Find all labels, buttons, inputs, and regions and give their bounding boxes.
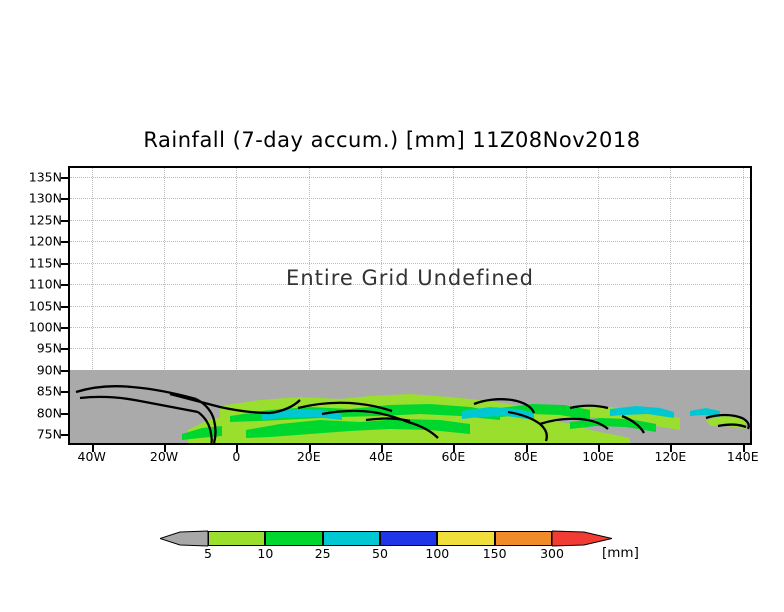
y-axis-tick-100N (61, 327, 68, 329)
y-axis-tick-95N (61, 348, 68, 350)
chart-canvas: Rainfall (7-day accum.) [mm] 11Z08Nov201… (0, 0, 784, 612)
y-axis-label-130N: 130N (29, 191, 62, 206)
map-plot-area[interactable]: Entire Grid Undefined (68, 166, 752, 445)
y-axis-tick-120N (61, 241, 68, 243)
y-axis-label-105N: 105N (29, 298, 62, 313)
x-axis-tick-20W (164, 445, 166, 452)
y-axis-tick-80N (61, 413, 68, 415)
y-axis-label-85N: 85N (37, 384, 62, 399)
x-axis-tick-20E (309, 445, 311, 452)
y-axis-label-110N: 110N (29, 277, 62, 292)
x-axis-tick-140E (743, 445, 745, 452)
colorbar-swatch-3 (380, 531, 437, 546)
colorbar-unit-label: [mm] (602, 545, 639, 561)
colorbar-tick-300: 300 (540, 546, 564, 561)
colorbar-tick-150: 150 (483, 546, 507, 561)
map-inner: Entire Grid Undefined (70, 168, 750, 443)
x-axis-tick-120E (670, 445, 672, 452)
colorbar-tick-25: 25 (315, 546, 331, 561)
colorbar-swatch-0 (208, 531, 265, 546)
y-axis-label-120N: 120N (29, 234, 62, 249)
y-axis-label-100N: 100N (29, 319, 62, 334)
colorbar-arrow-low (160, 528, 208, 549)
rainfall-field (70, 168, 750, 443)
colorbar-swatch-4 (437, 531, 494, 546)
y-axis-tick-85N (61, 391, 68, 393)
y-axis-label-115N: 115N (29, 255, 62, 270)
page-title: Rainfall (7-day accum.) [mm] 11Z08Nov201… (0, 128, 784, 152)
x-axis-tick-80E (526, 445, 528, 452)
y-axis-label-125N: 125N (29, 212, 62, 227)
x-axis-tick-40E (381, 445, 383, 452)
y-axis-tick-135N (61, 177, 68, 179)
y-axis-label-135N: 135N (29, 169, 62, 184)
x-axis-tick-100E (598, 445, 600, 452)
y-axis-label-95N: 95N (37, 341, 62, 356)
colorbar-swatch-2 (323, 531, 380, 546)
colorbar-tick-5: 5 (204, 546, 212, 561)
y-axis-tick-110N (61, 284, 68, 286)
y-axis-tick-105N (61, 306, 68, 308)
rainfall-patches (76, 386, 749, 443)
y-axis-tick-115N (61, 263, 68, 265)
x-axis-tick-0 (236, 445, 238, 452)
y-axis-tick-90N (61, 370, 68, 372)
y-axis-tick-130N (61, 198, 68, 200)
colorbar-swatch-5 (495, 531, 552, 546)
colorbar-tick-100: 100 (425, 546, 449, 561)
colorbar-tick-50: 50 (372, 546, 388, 561)
x-axis-tick-40W (92, 445, 94, 452)
colorbar-swatch-1 (265, 531, 322, 546)
y-axis-label-80N: 80N (37, 405, 62, 420)
colorbar-tick-10: 10 (257, 546, 273, 561)
y-axis-label-75N: 75N (37, 427, 62, 442)
y-axis-label-90N: 90N (37, 362, 62, 377)
y-axis-tick-75N (61, 434, 68, 436)
x-axis-tick-60E (453, 445, 455, 452)
colorbar[interactable] (160, 528, 650, 548)
y-axis-tick-125N (61, 220, 68, 222)
